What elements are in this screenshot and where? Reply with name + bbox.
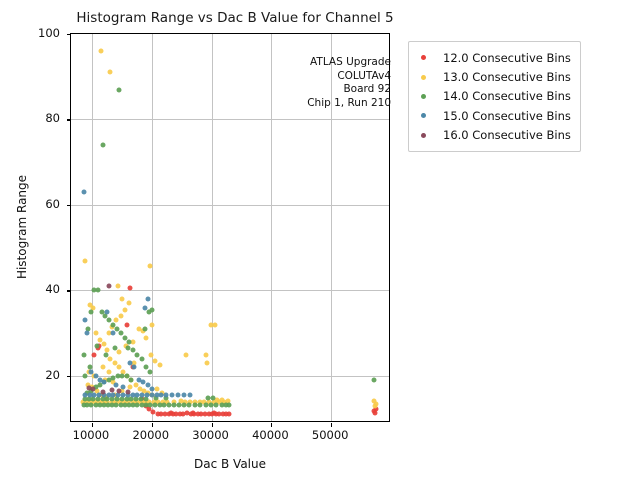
scatter-point [203,352,208,357]
legend-marker-icon [421,75,426,80]
scatter-point [182,393,187,398]
plot-annotation: ATLAS Upgrade COLUTAv4 Board 92 Chip 1, … [265,56,391,110]
scatter-point [101,380,106,385]
y-axis-tick-label: 100 [0,26,60,40]
scatter-point [111,331,116,336]
scatter-point [198,403,203,408]
legend-marker-icon [421,55,426,60]
legend-label: 13.0 Consecutive Bins [443,70,571,84]
scatter-point [164,393,169,398]
legend-item[interactable]: 14.0 Consecutive Bins [416,87,571,106]
scatter-point [127,301,132,306]
scatter-point [142,326,147,331]
scatter-point [83,373,88,378]
scatter-point [82,258,87,263]
scatter-point [372,410,377,415]
scatter-point [107,284,112,289]
gridline-vertical [212,34,213,421]
scatter-point [139,356,144,361]
scatter-point [131,365,136,370]
scatter-point [124,322,129,327]
scatter-point [372,403,377,408]
y-axis-tick [67,34,71,35]
scatter-point [191,410,196,415]
scatter-point [176,393,181,398]
scatter-point [148,352,153,357]
y-axis-tick [67,376,71,377]
x-axis-tick-label: 50000 [312,428,349,442]
scatter-point [187,403,192,408]
scatter-point [113,382,118,387]
scatter-point [100,365,105,370]
gridline-horizontal [71,119,389,120]
scatter-point [208,403,213,408]
scatter-point [126,389,131,394]
scatter-point [84,331,89,336]
y-axis-tick-label: 40 [0,282,60,296]
scatter-point [213,322,218,327]
y-axis-tick [67,290,71,291]
legend-marker-icon [421,94,426,99]
scatter-point [372,378,377,383]
x-axis-tick-label: 20000 [132,428,169,442]
scatter-point [82,352,87,357]
y-axis-tick-label: 80 [0,111,60,125]
y-axis-tick [67,119,71,120]
gridline-vertical [92,34,93,421]
scatter-point [211,410,216,415]
scatter-point [86,386,91,391]
scatter-point [188,393,193,398]
scatter-point [146,297,151,302]
scatter-point [89,309,94,314]
scatter-point [147,263,152,268]
legend-item[interactable]: 13.0 Consecutive Bins [416,67,571,86]
gridline-horizontal [71,290,389,291]
chart-title: Histogram Range vs Dac B Value for Chann… [70,10,400,26]
scatter-point [147,369,152,374]
scatter-point [127,339,132,344]
scatter-point [210,395,215,400]
x-axis-tick [92,423,93,427]
scatter-point [116,87,121,92]
scatter-point [149,386,154,391]
scatter-point [94,344,99,349]
scatter-point [107,70,112,75]
scatter-point [95,288,100,293]
scatter-point [115,284,120,289]
gridline-horizontal [71,205,389,206]
legend-item[interactable]: 16.0 Consecutive Bins [416,126,571,145]
legend-marker-icon [421,113,426,118]
legend-label: 15.0 Consecutive Bins [443,109,571,123]
scatter-point [82,318,87,323]
y-axis-tick-label: 20 [0,368,60,382]
scatter-point [104,352,109,357]
scatter-point [125,346,130,351]
scatter-point [214,403,219,408]
legend-item[interactable]: 15.0 Consecutive Bins [416,106,571,125]
y-axis-title: Histogram Range [15,175,29,279]
scatter-point [128,378,133,383]
scatter-point [204,361,209,366]
scatter-point [176,403,181,408]
scatter-point [101,390,106,395]
x-axis-tick [271,423,272,427]
scatter-point [116,388,121,393]
legend-label: 12.0 Consecutive Bins [443,51,571,65]
scatter-point [226,411,231,416]
scatter-point [170,393,175,398]
legend-marker-icon [421,133,426,138]
scatter-point [127,286,132,291]
scatter-point [158,362,163,367]
scatter-point [182,403,187,408]
scatter-point [150,307,155,312]
scatter-point [155,386,160,391]
x-axis-tick [212,423,213,427]
scatter-point [144,335,149,340]
scatter-point [184,352,189,357]
x-axis-tick-label: 40000 [252,428,289,442]
scatter-point [203,403,208,408]
scatter-point [105,309,110,314]
scatter-point [192,403,197,408]
scatter-point [94,331,99,336]
scatter-point [92,352,97,357]
scatter-point [143,397,148,402]
x-axis-title: Dac B Value [194,457,266,471]
y-axis-tick-label: 60 [0,197,60,211]
scatter-point [122,307,127,312]
x-axis-tick-label: 10000 [73,428,110,442]
scatter-point [82,190,87,195]
scatter-point [121,384,126,389]
scatter-point [110,387,115,392]
scatter-point [120,297,125,302]
legend-item[interactable]: 12.0 Consecutive Bins [416,48,571,67]
x-axis-tick [152,423,153,427]
scatter-point [205,395,210,400]
scatter-point [98,49,103,54]
legend: 12.0 Consecutive Bins13.0 Consecutive Bi… [408,41,581,152]
legend-label: 16.0 Consecutive Bins [443,128,571,142]
legend-label: 14.0 Consecutive Bins [443,89,571,103]
scatter-point [143,305,148,310]
scatter-point [118,314,123,319]
scatter-point [149,322,154,327]
y-axis-tick [67,205,71,206]
scatter-point [107,369,112,374]
gridline-vertical [152,34,153,421]
x-axis-tick [331,423,332,427]
scatter-point [101,341,106,346]
plot-area: ATLAS Upgrade COLUTAv4 Board 92 Chip 1, … [70,33,390,422]
scatter-point [226,403,231,408]
scatter-point [100,143,105,148]
scatter-point [117,350,122,355]
scatter-point [113,346,118,351]
chart-root: Histogram Range vs Dac B Value for Chann… [0,0,640,480]
scatter-point [168,410,173,415]
x-axis-tick-label: 30000 [192,428,229,442]
